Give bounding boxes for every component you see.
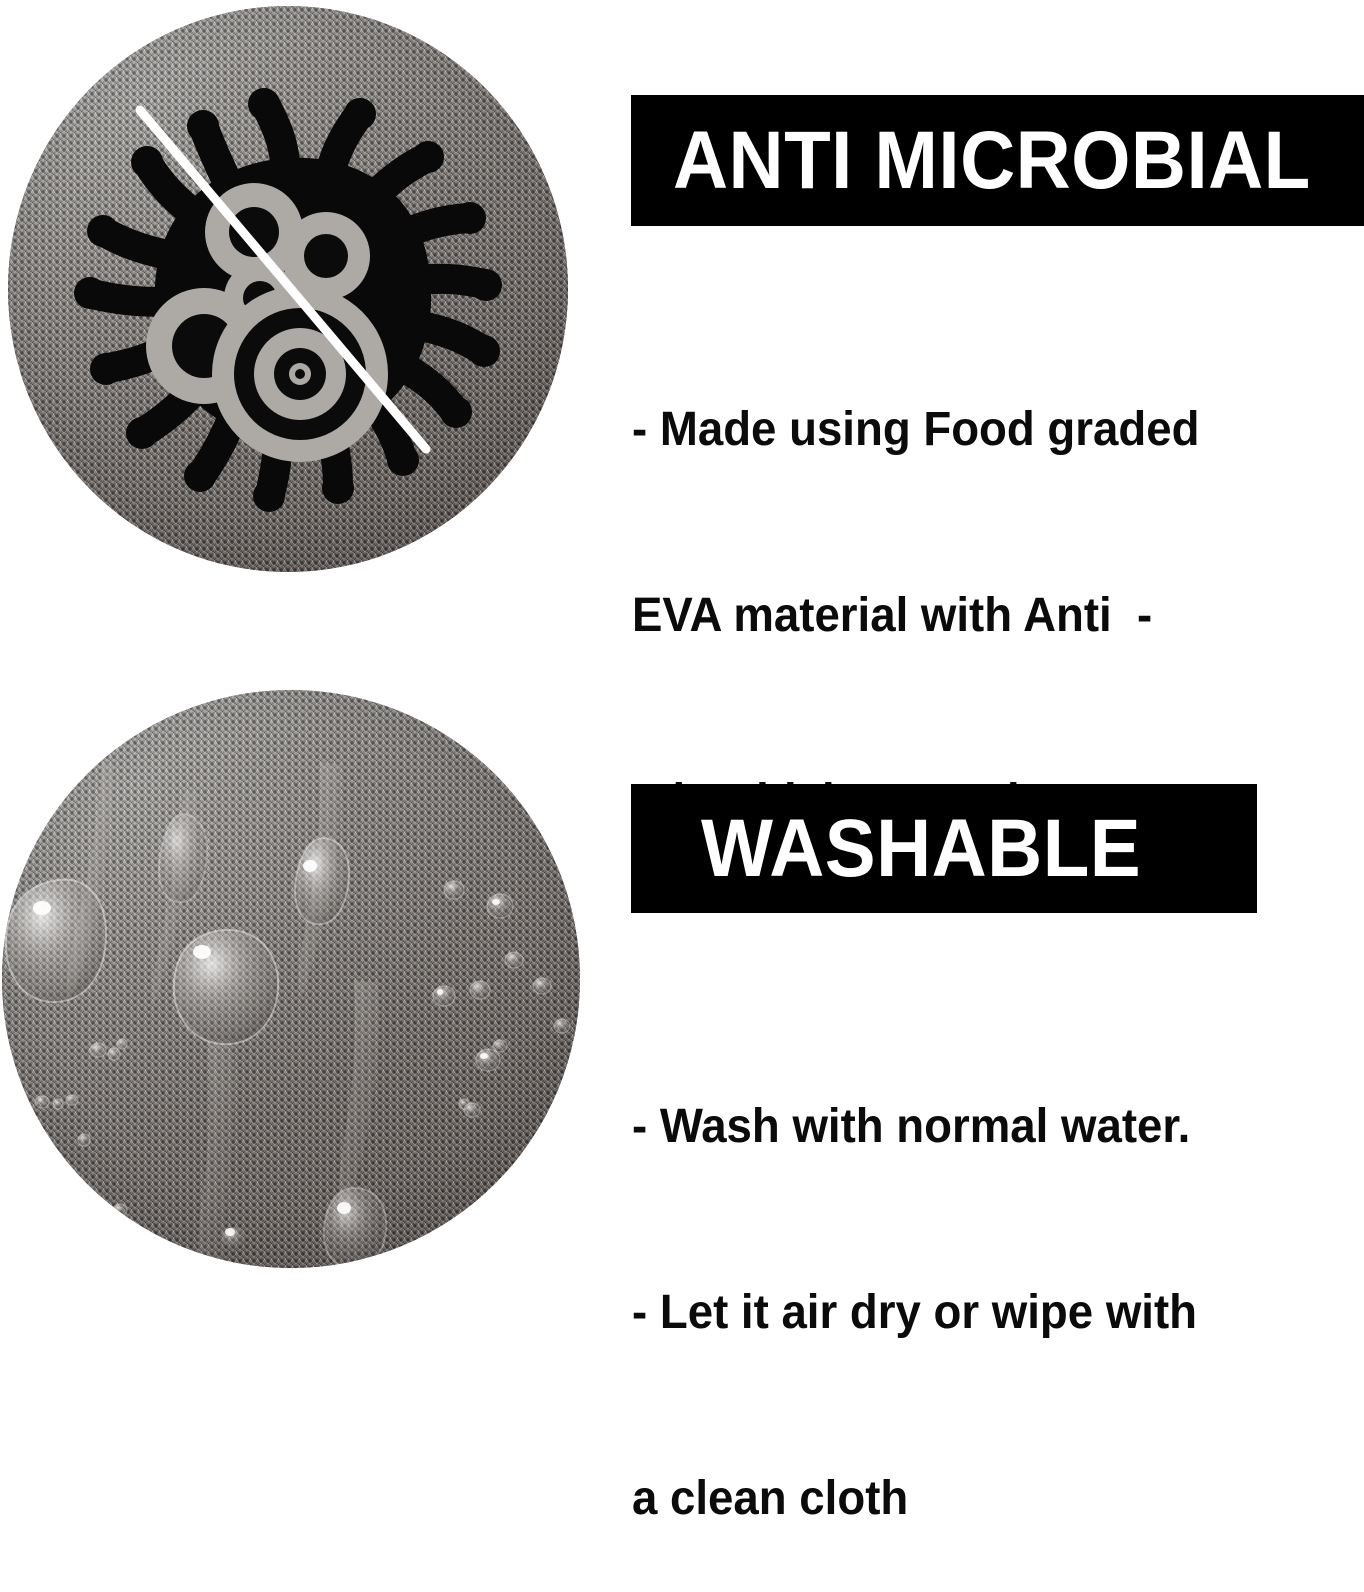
washable-bullet-list: - Wash with normal water. - Let it air d… [632, 972, 1197, 1592]
bullet-line: - Made using Food graded [632, 399, 1199, 461]
bullet-line: a clean cloth [632, 1468, 1197, 1530]
water-droplet-icon [2, 690, 580, 1268]
washable-title-banner: WASHABLE [631, 784, 1257, 913]
anti-microbial-title-banner: ANTI MICROBIAL [631, 95, 1364, 226]
water-droplet-small [35, 881, 570, 1216]
microbe-icon [8, 6, 568, 572]
washable-image-disc [2, 690, 580, 1268]
anti-microbial-title: ANTI MICROBIAL [673, 120, 1311, 202]
bullet-line: EVA material with Anti - [632, 585, 1199, 647]
anti-microbial-image-disc [8, 6, 568, 572]
water-droplet-large [6, 814, 386, 1268]
bullet-line: - Wash with normal water. [632, 1096, 1197, 1158]
washable-title: WASHABLE [701, 808, 1141, 890]
bullet-line: - Let it air dry or wipe with [632, 1282, 1197, 1344]
